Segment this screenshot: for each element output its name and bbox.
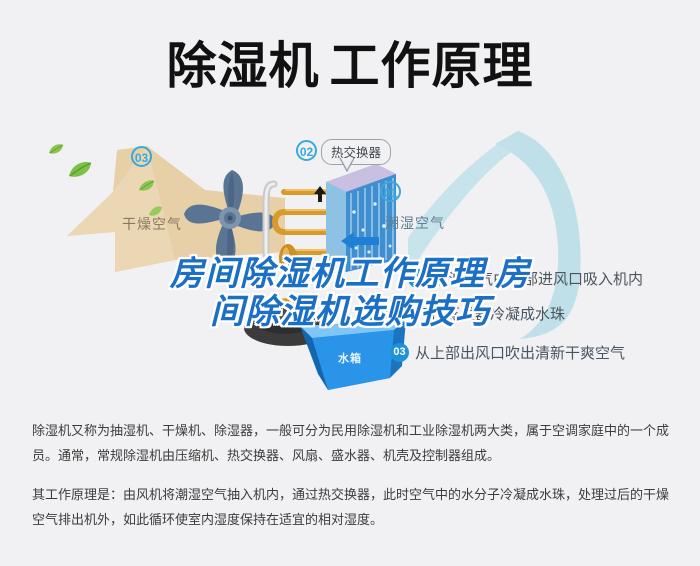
- step-03-text: 从上部出风口吹出清新干爽空气: [415, 345, 625, 362]
- step-02-text: 水蒸气在蒸发器冷凝成水珠: [385, 306, 565, 323]
- leaf-icon: [68, 162, 92, 178]
- air-inlet-arrow-icon: [341, 232, 379, 250]
- step-line-03: 03从上部出风口吹出清新干爽空气: [390, 342, 625, 363]
- callout-tail-icon: [339, 158, 355, 172]
- step-01-number: 01: [408, 269, 427, 288]
- step-01-text: 潮湿空气由下部进风口吸入机内: [433, 271, 643, 288]
- badge-step-01-humid-air: 01: [380, 181, 401, 202]
- water-tank-label: 水箱: [338, 350, 362, 366]
- page-title-part-a: 除湿机: [167, 38, 320, 94]
- badge-step-02-heat-exchanger: 02: [296, 140, 317, 161]
- body-paragraph-2: 其工作原理是：由风机将潮湿空气抽入机内，通过热交换器，此时空气中的水分子冷凝成水…: [32, 482, 672, 532]
- dry-air-label: 干燥空气: [122, 214, 182, 234]
- step-line-01: 01潮湿空气由下部进风口吸入机内: [408, 268, 643, 289]
- step-02-number: 02: [360, 304, 379, 323]
- leaf-icon: [138, 180, 155, 192]
- page-title-part-b: 工作原理: [330, 38, 534, 94]
- humid-air-label: 潮湿空气: [385, 213, 445, 233]
- body-paragraph-1: 除湿机又称为抽湿机、干燥机、除湿器，一般可分为民用除湿机和工业除湿机两大类，属于…: [32, 418, 672, 468]
- leaf-icon: [48, 144, 64, 155]
- article-body: 除湿机又称为抽湿机、干燥机、除湿器，一般可分为民用除湿机和工业除湿机两大类，属于…: [32, 418, 672, 546]
- step-03-number: 03: [390, 343, 409, 362]
- page-root: 除湿机工作原理: [0, 0, 700, 566]
- badge-step-03-dry-air: 03: [131, 146, 152, 167]
- heat-exchanger-callout: 热交换器: [321, 139, 391, 165]
- page-title: 除湿机工作原理: [0, 26, 700, 98]
- step-line-02: 02水蒸气在蒸发器冷凝成水珠: [360, 303, 565, 324]
- dehumidifier-diagram: 水箱 03 02 01 热交换器 干燥空气 潮湿空气 01潮湿空气由下部进风口吸…: [0, 118, 700, 390]
